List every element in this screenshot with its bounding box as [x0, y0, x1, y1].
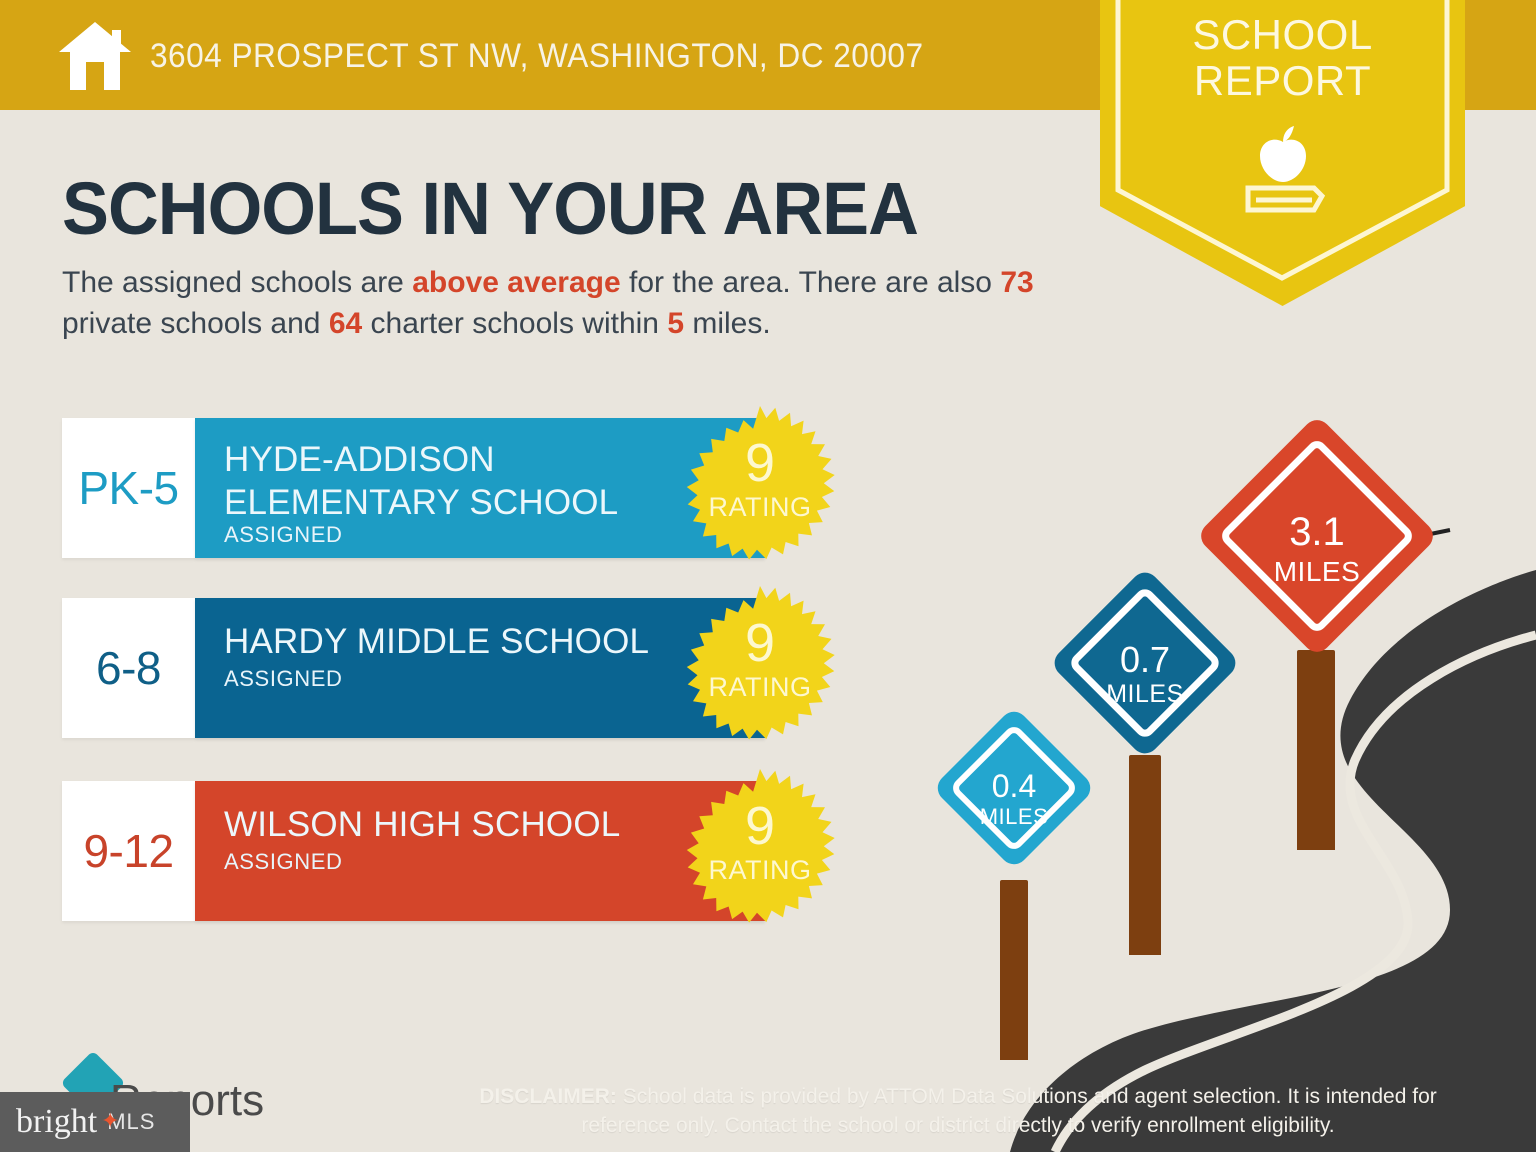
rating-badge: 9 RATING	[676, 767, 844, 935]
summary-text: The assigned schools are above average f…	[62, 262, 1072, 344]
assigned-status: ASSIGNED	[224, 666, 343, 692]
sign-distance-value: 3.1	[1231, 512, 1403, 552]
rating-score: 9	[676, 616, 844, 670]
school-name: HARDY MIDDLE SCHOOL	[224, 620, 649, 663]
grade-range-box: 6-8	[62, 598, 195, 738]
summary-segment: miles.	[684, 307, 771, 340]
sign-distance-value: 0.4	[956, 770, 1072, 802]
rating-score: 9	[676, 799, 844, 853]
school-report-banner: SCHOOL REPORT	[1100, 0, 1465, 306]
grade-range-box: 9-12	[62, 781, 195, 921]
house-icon	[57, 20, 133, 92]
mls-brand-text: bright	[16, 1105, 97, 1139]
grade-range-label: 6-8	[96, 641, 161, 695]
banner-title-line1: SCHOOL	[1192, 11, 1372, 58]
page-title: SCHOOLS IN YOUR AREA	[62, 168, 918, 250]
rating-word: RATING	[676, 855, 844, 886]
infographic-canvas: 3604 PROSPECT ST NW, WASHINGTON, DC 2000…	[0, 0, 1536, 1152]
mls-star-icon: ✦	[101, 1110, 119, 1132]
rating-score: 9	[676, 436, 844, 490]
sign-post	[1297, 650, 1335, 850]
banner-title: SCHOOL REPORT	[1100, 12, 1465, 104]
radius-miles: 5	[667, 307, 684, 340]
grade-range-box: PK-5	[62, 418, 195, 558]
school-name: WILSON HIGH SCHOOL	[224, 803, 620, 846]
sign-post	[1129, 755, 1161, 955]
sign-distance-unit: MILES	[1077, 682, 1213, 707]
assigned-status: ASSIGNED	[224, 849, 343, 875]
disclaimer-text: DISCLAIMER: School data is provided by A…	[453, 1082, 1463, 1140]
road-illustration: 3.1 MILES 0.7 MILES 0.4 MILES	[930, 430, 1536, 1152]
charter-schools-count: 64	[329, 307, 362, 340]
assigned-status: ASSIGNED	[224, 522, 343, 548]
bright-mls-logo: bright MLS	[0, 1092, 190, 1152]
summary-segment: private schools and	[62, 307, 329, 340]
sign-distance-unit: MILES	[1231, 558, 1403, 586]
rating-word: RATING	[676, 672, 844, 703]
summary-segment: charter schools within	[362, 307, 667, 340]
disclaimer-label: DISCLAIMER:	[479, 1085, 617, 1108]
sign-distance-value: 0.7	[1077, 642, 1213, 678]
school-name: HYDE-ADDISON ELEMENTARY SCHOOL	[224, 438, 618, 524]
summary-segment: The assigned schools are	[62, 266, 412, 299]
property-address: 3604 PROSPECT ST NW, WASHINGTON, DC 2000…	[150, 30, 923, 82]
rating-badge: 9 RATING	[676, 584, 844, 752]
grade-range-label: 9-12	[83, 824, 173, 878]
disclaimer-body: School data is provided by ATTOM Data So…	[581, 1085, 1436, 1137]
private-schools-count: 73	[1000, 266, 1033, 299]
sign-distance-unit: MILES	[956, 806, 1072, 828]
rating-badge: 9 RATING	[676, 404, 844, 572]
sign-post	[1000, 880, 1028, 1060]
rating-word: RATING	[676, 492, 844, 523]
summary-segment: for the area. There are also	[621, 266, 1001, 299]
grade-range-label: PK-5	[78, 461, 178, 515]
quality-phrase: above average	[412, 266, 620, 299]
banner-title-line2: REPORT	[1194, 57, 1371, 104]
apple-on-book-icon	[1228, 124, 1338, 216]
